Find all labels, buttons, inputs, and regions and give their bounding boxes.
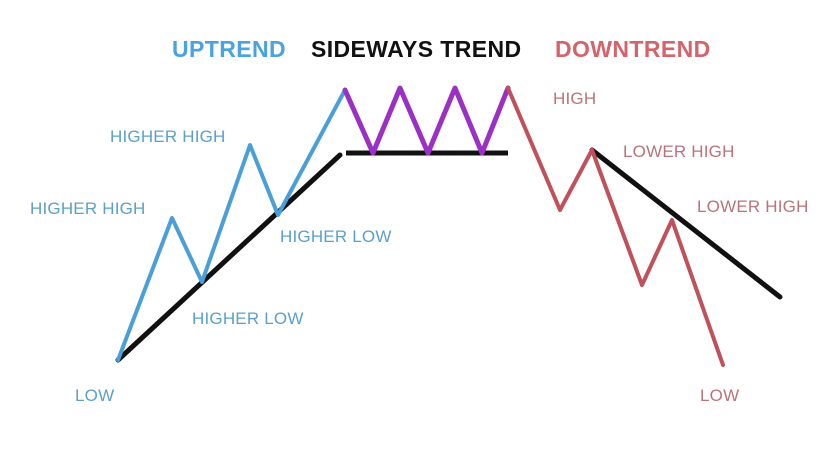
uptrend-support-line bbox=[118, 155, 340, 360]
label-lower-high-1: LOWER HIGH bbox=[623, 143, 735, 160]
sideways-price-line bbox=[345, 88, 508, 153]
label-higher-high-2: HIGHER HIGH bbox=[110, 128, 226, 145]
label-high-right: HIGH bbox=[553, 90, 596, 107]
label-low-left: LOW bbox=[75, 387, 114, 404]
label-higher-low-1: HIGHER LOW bbox=[192, 310, 304, 327]
label-lower-high-2: LOWER HIGH bbox=[697, 198, 809, 215]
header-downtrend: DOWNTREND bbox=[555, 38, 711, 61]
label-higher-high-1: HIGHER HIGH bbox=[30, 200, 146, 217]
label-higher-low-2: HIGHER LOW bbox=[280, 228, 392, 245]
header-sideways: SIDEWAYS TREND bbox=[311, 38, 522, 61]
header-uptrend: UPTREND bbox=[172, 38, 286, 61]
label-low-right: LOW bbox=[700, 387, 739, 404]
trend-diagram-canvas: UPTREND SIDEWAYS TREND DOWNTREND HIGHER … bbox=[0, 0, 838, 462]
